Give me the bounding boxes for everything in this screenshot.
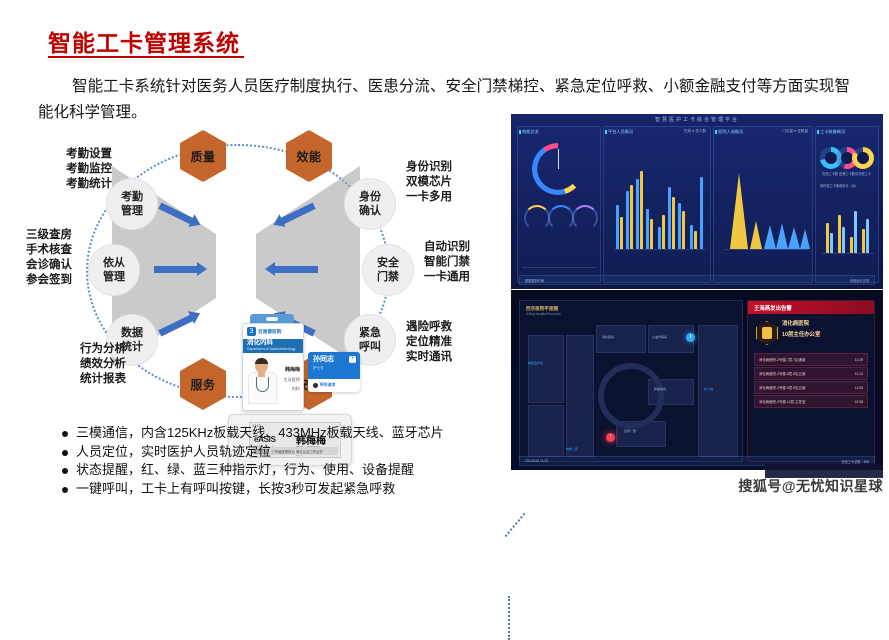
alarm-row-time: 11:25: [855, 358, 863, 362]
hospital-name: 百驰德医院: [258, 329, 282, 335]
annotation-emergency-line-3: 实时通讯: [406, 350, 496, 365]
watermark: 搜狐号@无忧知识星球: [738, 476, 883, 496]
call-icon: [313, 383, 318, 388]
alarm-pin-icon[interactable]: !: [606, 433, 615, 442]
annotation-compliance-line-1: 三级查房: [26, 228, 114, 243]
panel-efficiency-label: 效能总览: [522, 129, 539, 135]
slide-root: 智能工卡管理系统 智能工卡系统针对医务人员医疗制度执行、医患分流、安全门禁梯控、…: [0, 0, 889, 500]
list-item: 一键呼叫，工卡上有呼叫按键，长按3秒可发起紧急呼救: [62, 480, 492, 499]
panel-visits-legend: 门诊量 ● 住院量: [782, 129, 808, 134]
floorplan-left-tag: 重症监护室: [528, 361, 543, 365]
area-peak-4: [776, 223, 788, 249]
bar: [668, 187, 671, 249]
panel-visits: 医院人流概况 门诊量 ● 住院量: [713, 126, 813, 283]
bar: [694, 231, 697, 249]
annotation-statistics: 行为分析 绩效分析 统计报表: [50, 342, 126, 387]
feature-list-items: 三模通信，内含125KHz板载天线、433MHz板载天线、蓝牙芯片 人员定位，实…: [62, 424, 492, 498]
id-card: 3 百驰德医院 消化内科 Department of Gastroenterol…: [242, 323, 304, 411]
annotation-identity-line-1: 身份识别: [406, 160, 496, 175]
bar: [682, 211, 685, 249]
circle-identity-line2: 确认: [359, 204, 381, 218]
hospital-logo-icon: 3: [247, 327, 256, 336]
department-label: 消化内科: [247, 339, 303, 346]
list-item: 状态提醒，红、绿、蓝三种指示灯，行为、使用、设备提醒: [62, 461, 492, 480]
room-label: 肿瘤病房: [654, 387, 666, 391]
bar: [646, 209, 649, 249]
annotation-compliance-line-3: 会诊确认: [26, 258, 114, 273]
gauge-small-1: [524, 205, 550, 231]
bar: [700, 177, 703, 249]
id-card-logo-row: 3 百驰德医院: [243, 324, 303, 339]
dashboard-overview-footer-left: 数据更新时间: [525, 278, 544, 283]
alarm-row[interactable]: 消化病医院-2号楼-10层-主任室 10:58: [754, 395, 868, 408]
annotation-statistics-line-3: 统计报表: [50, 372, 126, 387]
bar: [616, 205, 619, 249]
bar: [650, 219, 653, 249]
bar: [636, 179, 639, 249]
card-holder-dept: 内科: [283, 384, 300, 393]
alarm-row-time: 11:05: [855, 386, 863, 390]
circle-identity-line1: 身份: [359, 190, 381, 204]
arrow-icon-5: [274, 266, 318, 273]
card-holder-title: 主治医师: [283, 375, 300, 384]
panel-staff-label: 平台人员概况: [608, 129, 633, 135]
bar: [658, 227, 661, 249]
room-block: [528, 335, 564, 403]
stethoscope-icon: [256, 377, 269, 392]
connector-line-2: [508, 596, 510, 640]
add-icon[interactable]: +: [349, 356, 356, 363]
doctor-photo: [247, 357, 277, 403]
circle-access-line2: 门禁: [377, 270, 399, 284]
panel-efficiency-rule: [522, 267, 596, 268]
dashboard-locator-footer-right: 在线工卡总数：568: [841, 459, 869, 464]
bar: [862, 229, 865, 253]
circle-statistics-line1: 数据: [121, 326, 143, 340]
room-label: 护士站: [704, 387, 713, 391]
hair-shape: [255, 358, 268, 364]
arrow-icon-2: [154, 266, 198, 273]
location-pin-icon[interactable]: i: [686, 333, 695, 342]
id-card-department-band: 消化内科 Department of Gastroenterology: [243, 339, 303, 353]
alarm-row-time: 10:58: [855, 400, 864, 404]
gauge-small-2: [548, 205, 574, 231]
area-peak-1: [730, 173, 748, 249]
feature-list: 三模通信，内含125KHz板载天线、433MHz板载天线、蓝牙芯片 人员定位，实…: [62, 424, 492, 498]
area-peak-3: [764, 225, 776, 249]
bar: [626, 191, 629, 249]
bar: [620, 217, 623, 249]
bar: [866, 219, 869, 253]
alarm-row-text: 消化病医院-2号楼-7层-7区通道: [759, 357, 805, 362]
app-user-name-text: 孙同志: [313, 356, 334, 363]
circle-attendance: 考勤 管理: [106, 178, 158, 230]
alarm-header: 王海燕发出告警: [748, 301, 874, 314]
bar: [640, 171, 643, 249]
alarm-row[interactable]: 消化病医院-2号楼-8层-8区过道 11:12: [754, 367, 868, 380]
room-block: [528, 405, 564, 457]
circle-emergency-line2: 呼叫: [359, 340, 381, 354]
floorplan-subtitle: XiJing hospital floor plan: [526, 312, 561, 316]
bar: [630, 185, 633, 249]
bar: [854, 211, 857, 253]
bar: [850, 237, 853, 253]
circle-attendance-line2: 管理: [121, 204, 143, 218]
room-label: 消化病房: [602, 335, 614, 339]
donut-charge-caption: 待充电工卡: [850, 171, 876, 176]
annotation-emergency-line-2: 定位精准: [406, 335, 496, 350]
page-title: 智能工卡管理系统: [48, 24, 240, 58]
area-peak-2: [750, 221, 762, 249]
donut-charge: [852, 147, 874, 169]
dashboard-locator-footer-left: 2021/5/14 11:25: [525, 459, 548, 463]
staff-axis: [614, 249, 706, 250]
bar: [830, 233, 833, 253]
alarm-location: 消化病医院 10层主任办公室: [782, 319, 820, 341]
annotation-compliance-line-4: 参会签到: [26, 273, 114, 288]
circle-access: 安全 门禁: [362, 244, 414, 296]
panel-cards-label: 工卡装备概况: [820, 129, 845, 135]
area-peak-5: [788, 227, 800, 249]
panel-cards: 工卡装备概况 在线工卡数 告警工卡数 待充电工卡 各科室工卡使用统计（台）: [815, 126, 879, 283]
list-item: 三模通信，内含125KHz板载天线、433MHz板载天线、蓝牙芯片: [62, 424, 492, 443]
annotation-identity-line-3: 一卡多用: [406, 190, 496, 205]
annotation-access-line-2: 智能门禁: [424, 255, 510, 270]
circle-attendance-line1: 考勤: [121, 190, 143, 204]
panel-staff: 平台人员概况 在岗 ● 总人数: [603, 126, 711, 283]
app-user-role: 护士长: [313, 364, 360, 372]
annotation-identity: 身份识别 双模芯片 一卡多用: [406, 160, 496, 205]
gauge-needle-icon: [558, 149, 559, 169]
panel-efficiency: 效能总览: [517, 126, 601, 283]
annotation-compliance-line-2: 手术核查: [26, 243, 114, 258]
annotation-access-line-1: 自动识别: [424, 240, 510, 255]
floorplan-panel: 西京医院平面图 XiJing hospital floor plan 消化病房 …: [519, 300, 743, 462]
bar: [690, 225, 693, 249]
annotation-attendance-line-2: 考勤监控: [28, 162, 112, 177]
id-card-meta: 韩梅梅 主治医师 内科: [283, 365, 300, 393]
dashboard-overview-footer: 数据更新时间 系统运行正常: [519, 275, 875, 285]
alarm-row-time: 11:12: [855, 372, 863, 376]
panel-visits-label: 医院人流概况: [718, 129, 743, 135]
list-item: 人员定位，实时医护人员轨迹定位: [62, 443, 492, 462]
annotation-emergency-line-1: 遇险呼救: [406, 320, 496, 335]
bar: [826, 223, 829, 253]
annotation-statistics-line-1: 行为分析: [50, 342, 126, 357]
annotation-attendance-line-3: 考勤统计: [28, 177, 112, 192]
room-block: [698, 325, 738, 457]
mobile-app-card[interactable]: 孙同志 护士长 + 呼叫请求: [308, 352, 360, 392]
alarm-row-text: 消化病医院-2号楼-9层-9区过道: [759, 385, 805, 390]
alarm-panel: 王海燕发出告警 消化病医院 10层主任办公室 消化病医院-2号楼-7层-7区通道…: [747, 300, 875, 462]
alarm-row-text: 消化病医院-2号楼-8层-8区过道: [759, 371, 805, 376]
visits-axis: [724, 249, 808, 250]
annotation-access: 自动识别 智能门禁 一卡通用: [424, 240, 510, 285]
annotation-attendance-line-1: 考勤设置: [28, 147, 112, 162]
id-card-body: 韩梅梅 主治医师 内科: [243, 353, 303, 409]
dashboard-overview: 智慧医护工卡综合管理平台 效能总览 平台人员概况 在岗 ● 总人数: [511, 114, 883, 289]
circle-access-line1: 安全: [377, 256, 399, 270]
bar: [678, 203, 681, 249]
alarm-location-line-1: 消化病医院: [782, 319, 820, 330]
room-label: 住院一部: [624, 429, 636, 433]
area-peak-6: [800, 229, 810, 249]
bar: [672, 197, 675, 249]
room-block: [596, 325, 646, 353]
room-label: 心血管病房: [652, 335, 667, 339]
department-label-en: Department of Gastroenterology: [247, 346, 303, 353]
room-block: [566, 335, 594, 457]
alarm-badge-icon: [756, 321, 778, 345]
connector-line-1: [505, 513, 526, 537]
floorplan-bottom-tag: 电梯二区: [566, 447, 578, 451]
bar-caption: 各科室工卡使用统计（台）: [820, 183, 858, 188]
title-underline: [48, 56, 244, 58]
annotation-identity-line-2: 双模芯片: [406, 175, 496, 190]
alarm-row-text: 消化病医院-2号楼-10层-主任室: [759, 399, 805, 404]
corridor-ring: [598, 363, 664, 429]
panel-staff-legend: 在岗 ● 总人数: [684, 129, 706, 134]
dashboard-overview-footer-right: 系统运行正常: [850, 278, 869, 283]
circle-identity: 身份 确认: [344, 178, 396, 230]
card-holder-name: 韩梅梅: [285, 367, 300, 373]
circle-emergency-line1: 紧急: [359, 326, 381, 340]
app-action-label: 呼叫请求: [320, 383, 335, 388]
alarm-location-line-2: 10层主任办公室: [782, 330, 820, 341]
dashboard-title: 智慧医护工卡综合管理平台: [511, 116, 883, 123]
alarm-row[interactable]: 消化病医院-2号楼-9层-9区过道 11:05: [754, 381, 868, 394]
annotation-emergency: 遇险呼救 定位精准 实时通讯: [406, 320, 496, 365]
bar: [838, 215, 841, 253]
annotation-attendance: 考勤设置 考勤监控 考勤统计: [28, 147, 112, 192]
cards-axis: [822, 253, 874, 254]
annotation-compliance: 三级查房 手术核查 会诊确认 参会签到: [26, 228, 114, 288]
gauge-small-3: [572, 205, 598, 231]
app-action-row[interactable]: 呼叫请求: [308, 379, 360, 392]
dashboard-locator: 西京医院平面图 XiJing hospital floor plan 消化病房 …: [511, 290, 883, 470]
annotation-access-line-3: 一卡通用: [424, 270, 510, 285]
alarm-row[interactable]: 消化病医院-2号楼-7层-7区通道 11:25: [754, 353, 868, 366]
bar: [662, 215, 665, 249]
bar: [842, 227, 845, 253]
annotation-statistics-line-2: 绩效分析: [50, 357, 126, 372]
dashboard-screenshots: 智慧医护工卡综合管理平台 效能总览 平台人员概况 在岗 ● 总人数: [511, 114, 883, 470]
